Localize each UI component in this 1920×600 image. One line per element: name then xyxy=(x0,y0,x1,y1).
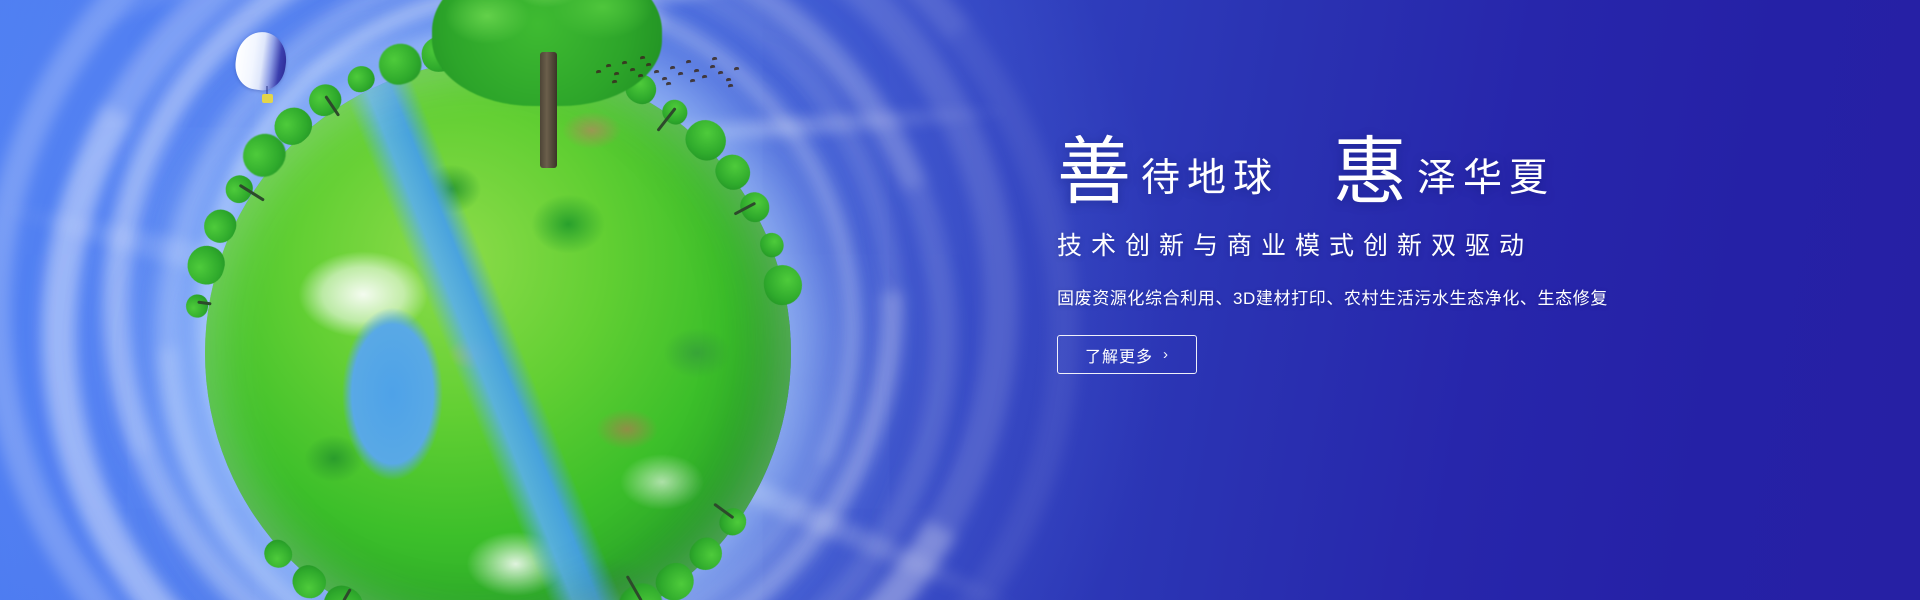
bird xyxy=(662,77,667,81)
headline-phrase1-rest: 待地球 xyxy=(1141,159,1279,198)
bird xyxy=(710,65,715,69)
page-title: 善 待地球 惠 泽华夏 xyxy=(1057,130,1817,204)
bird xyxy=(666,82,671,86)
hot-air-balloon-icon xyxy=(236,32,286,106)
page-subtitle: 技术创新与商业模式创新双驱动 xyxy=(1057,226,1817,262)
bird xyxy=(614,72,619,76)
hero-copy-block: 善 待地球 惠 泽华夏 技术创新与商业模式创新双驱动 固废资源化综合利用、3D建… xyxy=(1057,130,1817,374)
learn-more-label: 了解更多 xyxy=(1085,343,1153,367)
birds-flock-icon xyxy=(592,52,742,92)
bird xyxy=(712,57,717,61)
balloon-basket xyxy=(262,94,273,103)
headline-phrase1-lead: 善 xyxy=(1057,136,1131,210)
bird xyxy=(734,67,739,71)
bird xyxy=(654,70,659,74)
bird xyxy=(694,69,699,73)
bird xyxy=(690,79,695,83)
bird xyxy=(728,84,733,88)
chevron-right-icon: › xyxy=(1163,346,1169,363)
balloon-envelope xyxy=(232,29,290,93)
bird xyxy=(596,70,601,74)
bird xyxy=(612,80,617,84)
bird xyxy=(638,74,643,78)
bird xyxy=(702,75,707,79)
bird xyxy=(670,66,675,70)
bird xyxy=(646,63,651,67)
bird xyxy=(622,61,627,65)
bird xyxy=(640,56,645,60)
bird xyxy=(726,78,731,82)
page-description: 固废资源化综合利用、3D建材打印、农村生活污水生态净化、生态修复 xyxy=(1057,284,1817,309)
headline-phrase2-lead: 惠 xyxy=(1333,136,1407,210)
hero-banner: 善 待地球 惠 泽华夏 技术创新与商业模式创新双驱动 固废资源化综合利用、3D建… xyxy=(0,0,1920,600)
tree-trunk xyxy=(540,52,557,168)
bird xyxy=(718,71,723,75)
bird xyxy=(678,72,683,76)
bird xyxy=(606,64,611,68)
headline-phrase2-rest: 泽华夏 xyxy=(1417,159,1555,198)
bird xyxy=(630,68,635,72)
bird xyxy=(686,60,691,64)
learn-more-button[interactable]: 了解更多 › xyxy=(1057,335,1197,374)
